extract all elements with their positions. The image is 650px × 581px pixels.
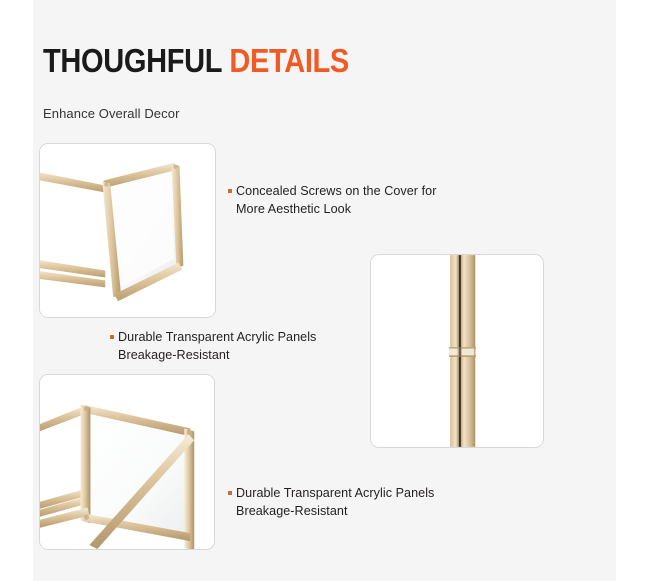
feature-bullet-acrylic-panels-lower: Durable Transparent Acrylic Panels Break… bbox=[228, 484, 508, 521]
page-title: THOUGHFUL DETAILS bbox=[43, 44, 349, 77]
page-subtitle: Enhance Overall Decor bbox=[43, 106, 180, 121]
bullet-dot-icon bbox=[228, 189, 232, 193]
feature-bullet-text: Durable Transparent Acrylic Panels Break… bbox=[236, 484, 434, 521]
page-title-accent: DETAILS bbox=[229, 42, 349, 79]
feature-bullet-text: Durable Transparent Acrylic Panels Break… bbox=[118, 328, 316, 365]
bullet-dot-icon bbox=[228, 491, 232, 495]
frame-corner-brace-graphic bbox=[40, 375, 214, 549]
page-title-primary: THOUGHFUL bbox=[43, 42, 222, 79]
product-image-frame-corner-brace bbox=[39, 374, 215, 550]
product-detail-page: THOUGHFUL DETAILS Enhance Overall Decor bbox=[0, 0, 650, 581]
bullet-dot-icon bbox=[110, 335, 114, 339]
feature-bullet-concealed-screws: Concealed Screws on the Cover for More A… bbox=[228, 182, 496, 219]
feature-bullet-acrylic-panels-upper: Durable Transparent Acrylic Panels Break… bbox=[110, 328, 400, 365]
panel-angled-view-graphic bbox=[40, 144, 215, 317]
product-image-panel-angled-view bbox=[39, 143, 216, 318]
feature-bullet-text: Concealed Screws on the Cover for More A… bbox=[236, 182, 436, 219]
